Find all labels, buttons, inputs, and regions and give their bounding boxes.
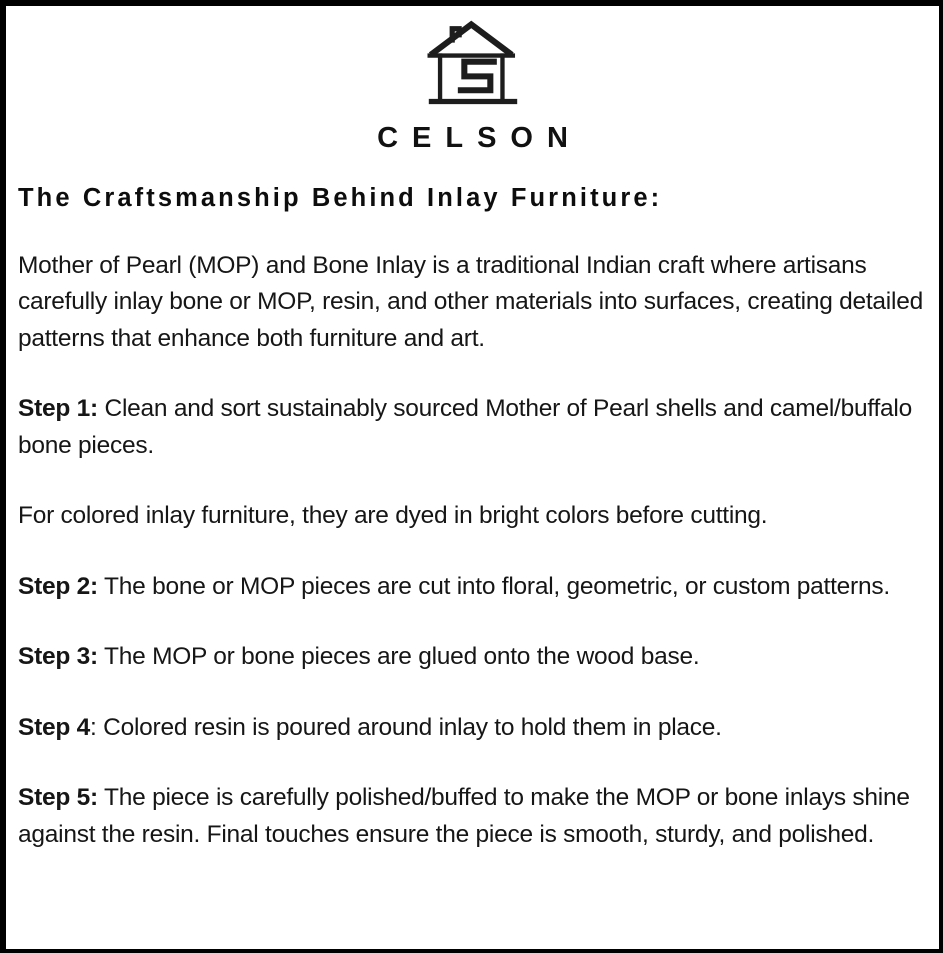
step-5-label: Step 5: — [18, 784, 98, 811]
step-5-text: The piece is carefully polished/buffed t… — [18, 784, 910, 848]
step-4-paragraph: Step 4: Colored resin is poured around i… — [18, 710, 925, 747]
spacer — [18, 605, 925, 639]
step-2-text: The bone or MOP pieces are cut into flor… — [98, 573, 890, 600]
brand-header: CELSON — [6, 6, 939, 153]
step-4-label: Step 4 — [18, 714, 90, 741]
spacer — [18, 746, 925, 780]
step-2-paragraph: Step 2: The bone or MOP pieces are cut i… — [18, 569, 925, 606]
step-3-text: The MOP or bone pieces are glued onto th… — [98, 643, 699, 670]
colored-inlay-note: For colored inlay furniture, they are dy… — [18, 498, 925, 535]
spacer — [18, 464, 925, 498]
step-3-label: Step 3: — [18, 643, 98, 670]
spacer — [18, 676, 925, 710]
step-5-paragraph: Step 5: The piece is carefully polished/… — [18, 780, 925, 853]
step-1-label: Step 1: — [18, 395, 98, 422]
house-monogram-logo-icon — [421, 14, 525, 118]
brand-wordmark: CELSON — [6, 124, 939, 153]
step-2-label: Step 2: — [18, 573, 98, 600]
step-4-text: Colored resin is poured around inlay to … — [97, 714, 722, 741]
article-content: The Craftsmanship Behind Inlay Furniture… — [6, 183, 939, 853]
step-1-paragraph: Step 1: Clean and sort sustainably sourc… — [18, 391, 925, 464]
spacer — [18, 214, 925, 248]
spacer — [18, 535, 925, 569]
poster-frame: CELSON The Craftsmanship Behind Inlay Fu… — [0, 0, 943, 953]
step-3-paragraph: Step 3: The MOP or bone pieces are glued… — [18, 639, 925, 676]
page-title: The Craftsmanship Behind Inlay Furniture… — [18, 183, 925, 214]
intro-paragraph: Mother of Pearl (MOP) and Bone Inlay is … — [18, 248, 925, 358]
spacer — [18, 357, 925, 391]
step-1-text: Clean and sort sustainably sourced Mothe… — [18, 395, 912, 459]
